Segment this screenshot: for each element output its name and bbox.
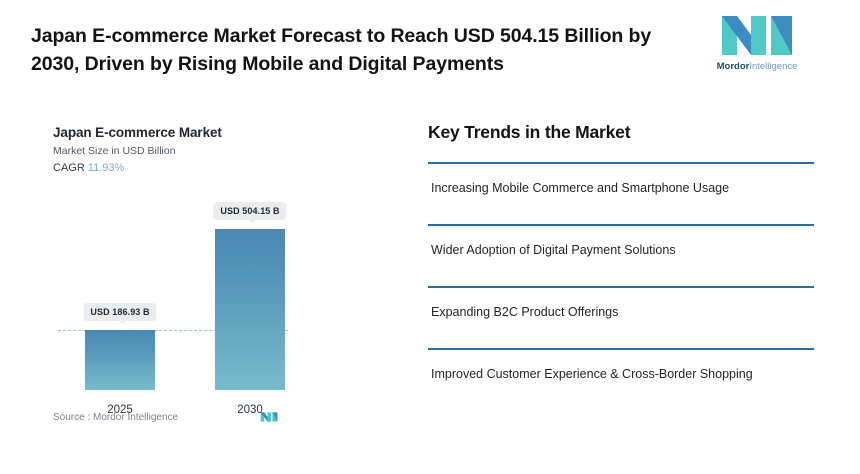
trend-item-label: Increasing Mobile Commerce and Smartphon… [431,181,729,195]
key-trends-heading: Key Trends in the Market [428,122,630,143]
brand-word-mordor: Mordor [717,61,750,72]
brand-logo: MordorIntelligence [711,12,803,80]
brand-word-intelligence: Intelligence [749,61,797,72]
chart-subtitle: Market Size in USD Billion [53,145,176,157]
brand-wordmark: MordorIntelligence [711,61,803,73]
trend-item-label: Expanding B2C Product Offerings [431,305,618,319]
source-text: Source : Mordor Intelligence [53,412,178,423]
trend-item[interactable]: Improved Customer Experience & Cross-Bor… [428,348,814,410]
mordor-intelligence-logo-icon [711,12,803,59]
key-trends-panel: Key Trends in the Market Increasing Mobi… [428,112,828,412]
bar-value-label-2025: USD 186.93 B [83,303,156,321]
mordor-intelligence-logo-icon [258,409,280,425]
trend-item[interactable]: Expanding B2C Product Offerings [428,286,814,348]
infographic-page: Japan E-commerce Market Forecast to Reac… [0,0,860,474]
source-row: Source : Mordor Intelligence [53,409,383,429]
trend-item-label: Wider Adoption of Digital Payment Soluti… [431,243,676,257]
key-trends-list: Increasing Mobile Commerce and Smartphon… [428,162,814,410]
bar-2030 [215,229,285,390]
chart-title: Japan E-commerce Market [53,125,222,140]
chart-panel: Japan E-commerce Market Market Size in U… [30,112,390,442]
bar-value-label-2030: USD 504.15 B [213,202,286,220]
bar-2025 [85,330,155,390]
header: Japan E-commerce Market Forecast to Reac… [0,0,860,98]
page-title: Japan E-commerce Market Forecast to Reac… [31,22,691,78]
bar-chart-plot: USD 186.93 B2025USD 504.15 B2030 [30,172,390,442]
trend-item[interactable]: Wider Adoption of Digital Payment Soluti… [428,224,814,286]
trend-item[interactable]: Increasing Mobile Commerce and Smartphon… [428,162,814,224]
trend-item-label: Improved Customer Experience & Cross-Bor… [431,367,753,381]
